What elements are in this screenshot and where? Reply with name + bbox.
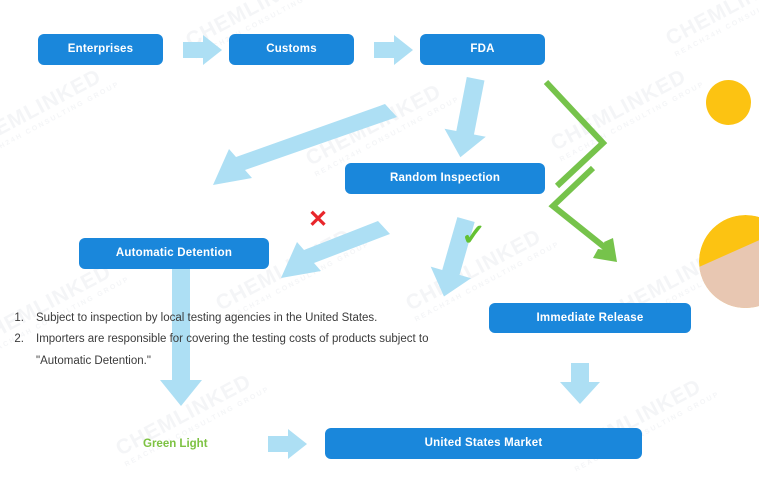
- note-item: 1. Subject to inspection by local testin…: [6, 308, 476, 329]
- note-number: 2.: [6, 329, 36, 350]
- node-random-inspection-label: Random Inspection: [390, 172, 500, 185]
- node-immediate-release-label: Immediate Release: [537, 312, 644, 325]
- node-random-inspection[interactable]: Random Inspection: [345, 163, 545, 194]
- arrow-enterprises-to-customs: [183, 35, 222, 65]
- node-enterprises[interactable]: Enterprises: [38, 34, 163, 65]
- label-green-light: Green Light: [143, 438, 208, 450]
- node-customs-label: Customs: [266, 43, 317, 56]
- watermark-main: CHEMLINKED: [0, 59, 117, 157]
- node-automatic-detention-label: Automatic Detention: [116, 247, 232, 260]
- decorative-circle-yellow-small: [706, 80, 751, 125]
- watermark-main: CHEMLINKED: [302, 74, 457, 172]
- node-customs[interactable]: Customs: [229, 34, 354, 65]
- watermark: CHEMLINKED REACH24H CONSULTING GROUP: [112, 364, 271, 469]
- node-enterprises-label: Enterprises: [68, 43, 133, 56]
- watermark-sub: REACH24H CONSULTING GROUP: [124, 386, 271, 469]
- note-number: 1.: [6, 308, 36, 329]
- watermark-main: CHEMLINKED: [547, 59, 702, 157]
- watermark-sub: REACH24H CONSULTING GROUP: [0, 81, 121, 164]
- node-fda-label: FDA: [470, 43, 494, 56]
- flowchart-canvas: CHEMLINKED REACH24H CONSULTING GROUP CHE…: [0, 0, 759, 482]
- node-fda[interactable]: FDA: [420, 34, 545, 65]
- node-automatic-detention[interactable]: Automatic Detention: [79, 238, 269, 269]
- arrow-immediate-release-to-us-market: [560, 363, 600, 404]
- watermark: CHEMLINKED REACH24H CONSULTING GROUP: [0, 59, 121, 164]
- arrow-customs-to-fda: [374, 35, 413, 65]
- note-text: Subject to inspection by local testing a…: [36, 308, 456, 329]
- decorative-circle-yellow-large: [699, 215, 759, 308]
- node-united-states-market-label: United States Market: [425, 437, 543, 450]
- node-united-states-market[interactable]: United States Market: [325, 428, 642, 459]
- watermark: CHEMLINKED REACH24H CONSULTING GROUP: [547, 59, 706, 164]
- watermark-sub: REACH24H CONSULTING GROUP: [674, 0, 759, 58]
- approve-check-icon: ✓: [461, 221, 486, 251]
- arrow-random-inspection-to-automatic-detention: [281, 221, 390, 278]
- watermark-main: CHEMLINKED: [662, 0, 759, 51]
- watermark-sub: REACH24H CONSULTING GROUP: [559, 81, 706, 164]
- node-immediate-release[interactable]: Immediate Release: [489, 303, 691, 333]
- notes-list: 1. Subject to inspection by local testin…: [6, 308, 476, 372]
- arrow-fda-to-random-inspection: [440, 75, 496, 162]
- note-text: Importers are responsible for covering t…: [36, 329, 456, 372]
- reject-cross-icon: ✕: [308, 208, 328, 232]
- watermark: CHEMLINKED REACH24H CONSULTING GROUP: [662, 0, 759, 58]
- note-item: 2. Importers are responsible for coverin…: [6, 329, 476, 372]
- arrow-green-light-to-us-market: [268, 429, 307, 459]
